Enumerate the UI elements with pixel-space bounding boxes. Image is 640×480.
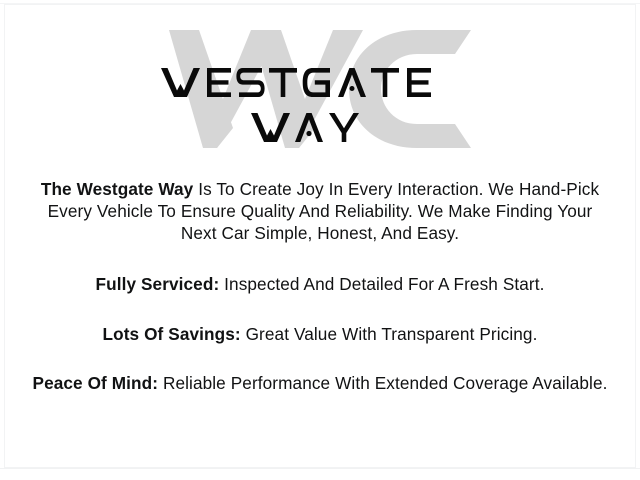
feature-peace-of-mind-text: Reliable Performance With Extended Cover… bbox=[158, 373, 607, 393]
feature-fully-serviced-lead: Fully Serviced: bbox=[96, 274, 220, 294]
value-proposition-copy: The Westgate Way Is To Create Joy In Eve… bbox=[12, 178, 628, 394]
feature-lots-of-savings-text: Great Value With Transparent Pricing. bbox=[241, 324, 538, 344]
feature-fully-serviced: Fully Serviced: Inspected And Detailed F… bbox=[30, 245, 610, 295]
feature-peace-of-mind: Peace Of Mind: Reliable Performance With… bbox=[30, 345, 610, 394]
brand-logo bbox=[12, 0, 628, 178]
intro-paragraph: The Westgate Way Is To Create Joy In Eve… bbox=[30, 178, 610, 245]
feature-peace-of-mind-lead: Peace Of Mind: bbox=[33, 373, 159, 393]
feature-fully-serviced-text: Inspected And Detailed For A Fresh Start… bbox=[219, 274, 544, 294]
intro-lead: The Westgate Way bbox=[41, 179, 194, 199]
promo-panel: The Westgate Way Is To Create Joy In Eve… bbox=[0, 0, 640, 480]
brand-wordmark bbox=[155, 24, 485, 154]
panel-content: The Westgate Way Is To Create Joy In Eve… bbox=[0, 0, 640, 480]
feature-lots-of-savings-lead: Lots Of Savings: bbox=[103, 324, 241, 344]
feature-lots-of-savings: Lots Of Savings: Great Value With Transp… bbox=[30, 295, 610, 345]
logo-stage bbox=[155, 24, 485, 154]
